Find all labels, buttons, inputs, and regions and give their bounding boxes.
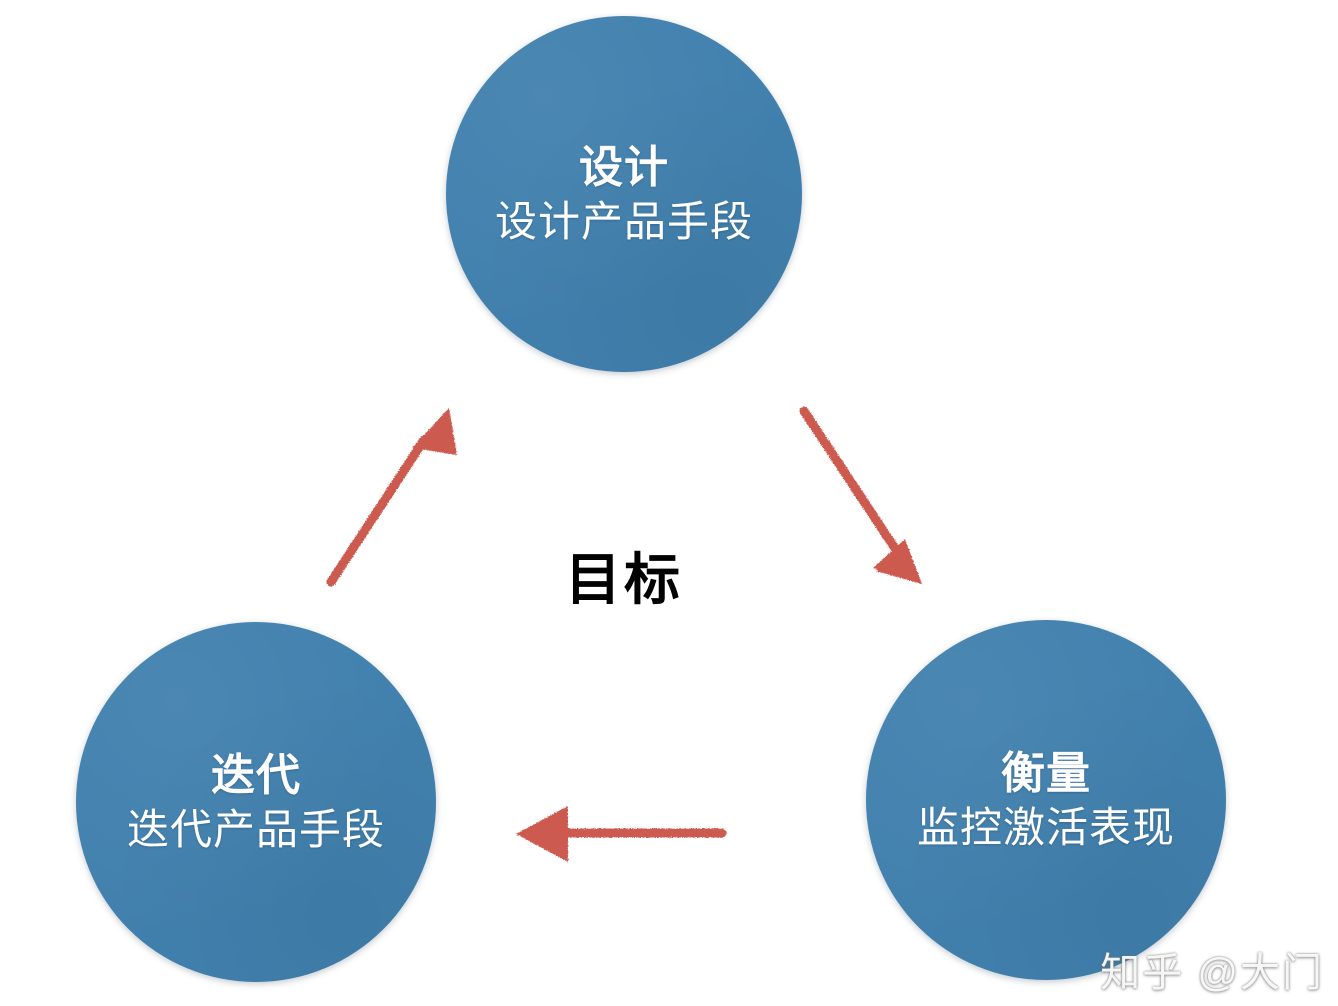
node-design-title: 设计 <box>579 143 669 192</box>
node-design[interactable]: 设计 设计产品手段 <box>446 16 802 372</box>
arrow-measure-to-iterate <box>516 806 722 862</box>
node-iterate-title: 迭代 <box>211 751 301 800</box>
node-measure-subtitle: 监控激活表现 <box>917 804 1175 851</box>
diagram-canvas: 设计 设计产品手段 迭代 迭代产品手段 衡量 监控激活表现 目标 知乎 @大门 <box>0 0 1338 1006</box>
node-iterate[interactable]: 迭代 迭代产品手段 <box>76 622 436 982</box>
center-label-wrap: 目标 <box>0 552 1338 608</box>
node-iterate-subtitle: 迭代产品手段 <box>127 806 385 853</box>
center-label: 目标 <box>565 552 683 608</box>
node-measure-title: 衡量 <box>1001 749 1091 798</box>
watermark: 知乎 @大门 <box>1100 940 1324 998</box>
node-measure[interactable]: 衡量 监控激活表现 <box>866 620 1226 980</box>
node-design-subtitle: 设计产品手段 <box>495 198 753 245</box>
